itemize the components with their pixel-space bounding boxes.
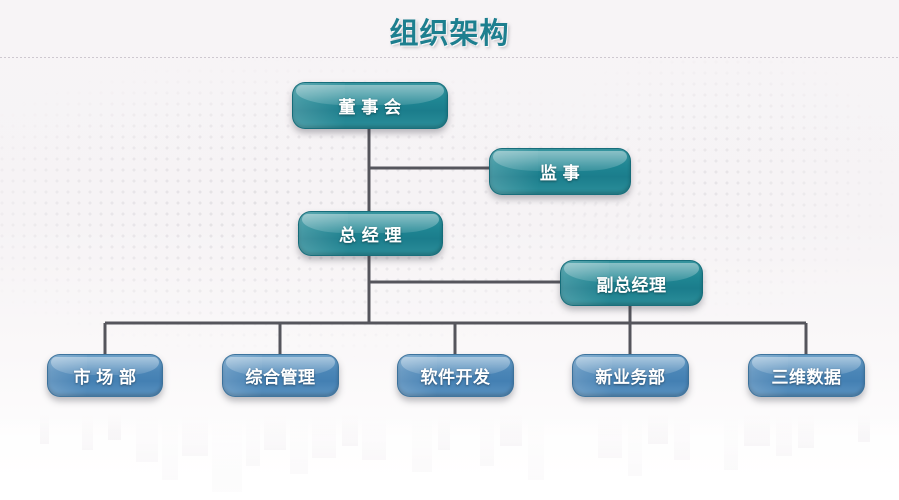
org-node-department-3[interactable]: 新业务部	[572, 354, 689, 397]
org-chart-slide: 组织架构 董 事 会 监 事 总 经 理 副总经理 市 场 部 综合管理 软件开…	[0, 0, 899, 500]
org-node-general-manager[interactable]: 总 经 理	[298, 211, 443, 256]
org-node-department-1-label: 综合管理	[246, 363, 316, 388]
org-node-supervisor-label: 监 事	[540, 159, 580, 184]
org-node-board-label: 董 事 会	[339, 93, 402, 118]
org-node-board[interactable]: 董 事 会	[292, 82, 448, 129]
org-node-department-2-label: 软件开发	[421, 363, 491, 388]
page-title: 组织架构	[0, 10, 899, 52]
org-node-department-1[interactable]: 综合管理	[222, 354, 339, 397]
dot-grid-pattern-right	[560, 60, 899, 350]
org-node-department-4-label: 三维数据	[772, 363, 842, 388]
water-reflection-overlay	[0, 414, 899, 500]
org-node-department-2[interactable]: 软件开发	[397, 354, 514, 397]
org-node-deputy-general-manager-label: 副总经理	[597, 271, 667, 296]
connector-lines	[0, 0, 899, 500]
org-node-department-0[interactable]: 市 场 部	[47, 354, 163, 397]
dot-grid-pattern-left	[0, 58, 899, 358]
header-divider	[0, 57, 899, 58]
org-node-general-manager-label: 总 经 理	[339, 221, 402, 246]
org-node-department-0-label: 市 场 部	[74, 363, 137, 388]
org-node-department-3-label: 新业务部	[596, 363, 666, 388]
org-node-supervisor[interactable]: 监 事	[489, 148, 631, 195]
org-node-department-4[interactable]: 三维数据	[748, 354, 865, 397]
org-node-deputy-general-manager[interactable]: 副总经理	[560, 260, 703, 306]
city-skyline-icon	[0, 300, 899, 500]
